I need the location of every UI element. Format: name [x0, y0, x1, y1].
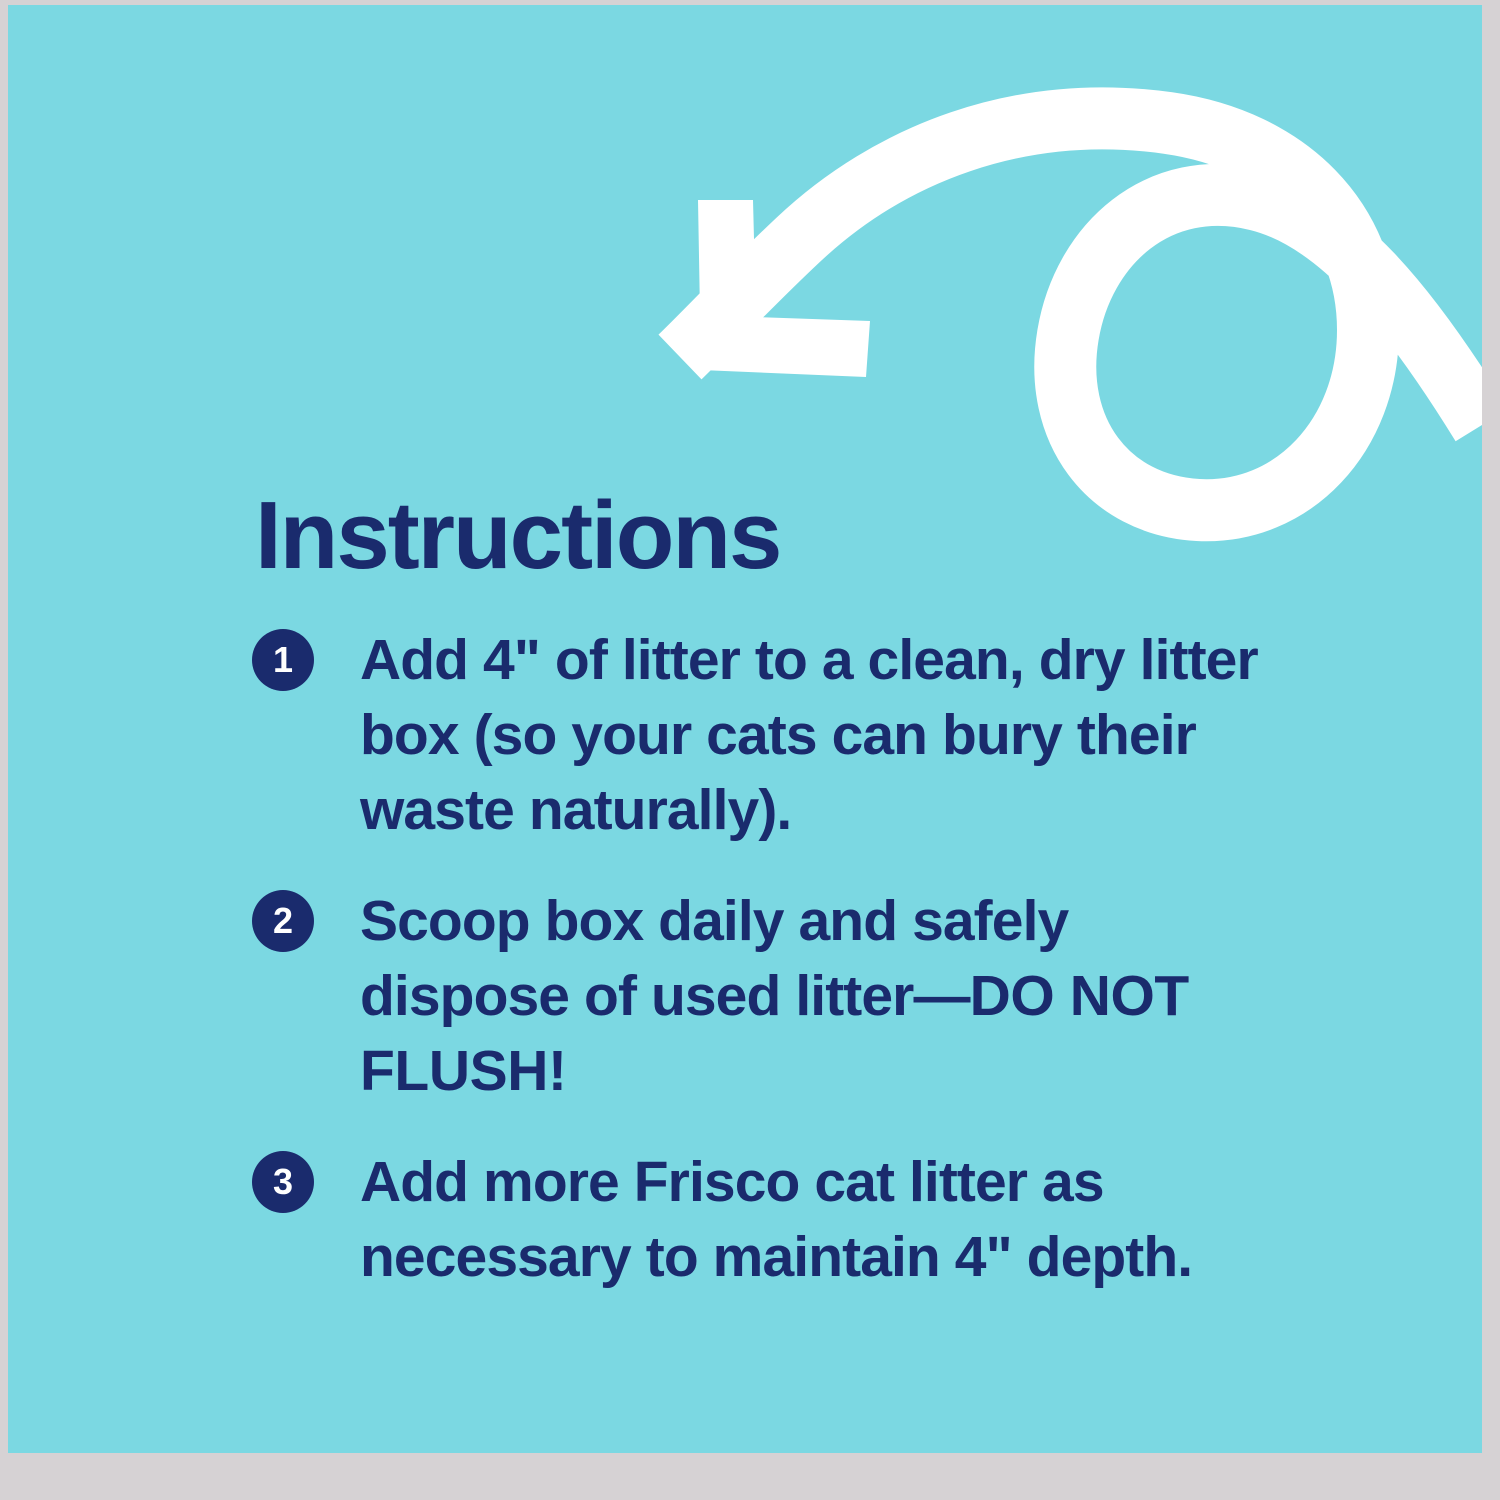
page-title: Instructions [255, 488, 780, 584]
step-text-main: Add more Frisco cat litter as necessary … [360, 1150, 1192, 1289]
list-item: 3 Add more Frisco cat litter as necessar… [252, 1145, 1332, 1295]
step-text: Add more Frisco cat litter as necessary … [360, 1145, 1290, 1295]
step-text-main: Add 4" of litter to a clean, dry litter … [360, 628, 1258, 842]
step-text: Scoop box daily and safely dispose of us… [360, 884, 1290, 1109]
instructions-step-list: 1 Add 4" of litter to a clean, dry litte… [252, 623, 1332, 1331]
step-number-badge: 1 [252, 629, 314, 691]
step-number-badge: 3 [252, 1151, 314, 1213]
list-item: 2 Scoop box daily and safely dispose of … [252, 884, 1332, 1109]
card-canvas: Instructions 1 Add 4" of litter to a cle… [8, 5, 1482, 1453]
list-item: 1 Add 4" of litter to a clean, dry litte… [252, 623, 1332, 848]
arrowhead [698, 200, 870, 377]
step-number-badge: 2 [252, 890, 314, 952]
step-text-main: Scoop box daily and safely dispose of us… [360, 889, 1068, 1028]
instructions-card: Instructions 1 Add 4" of litter to a cle… [0, 0, 1500, 1500]
step-text: Add 4" of litter to a clean, dry litter … [360, 623, 1290, 848]
